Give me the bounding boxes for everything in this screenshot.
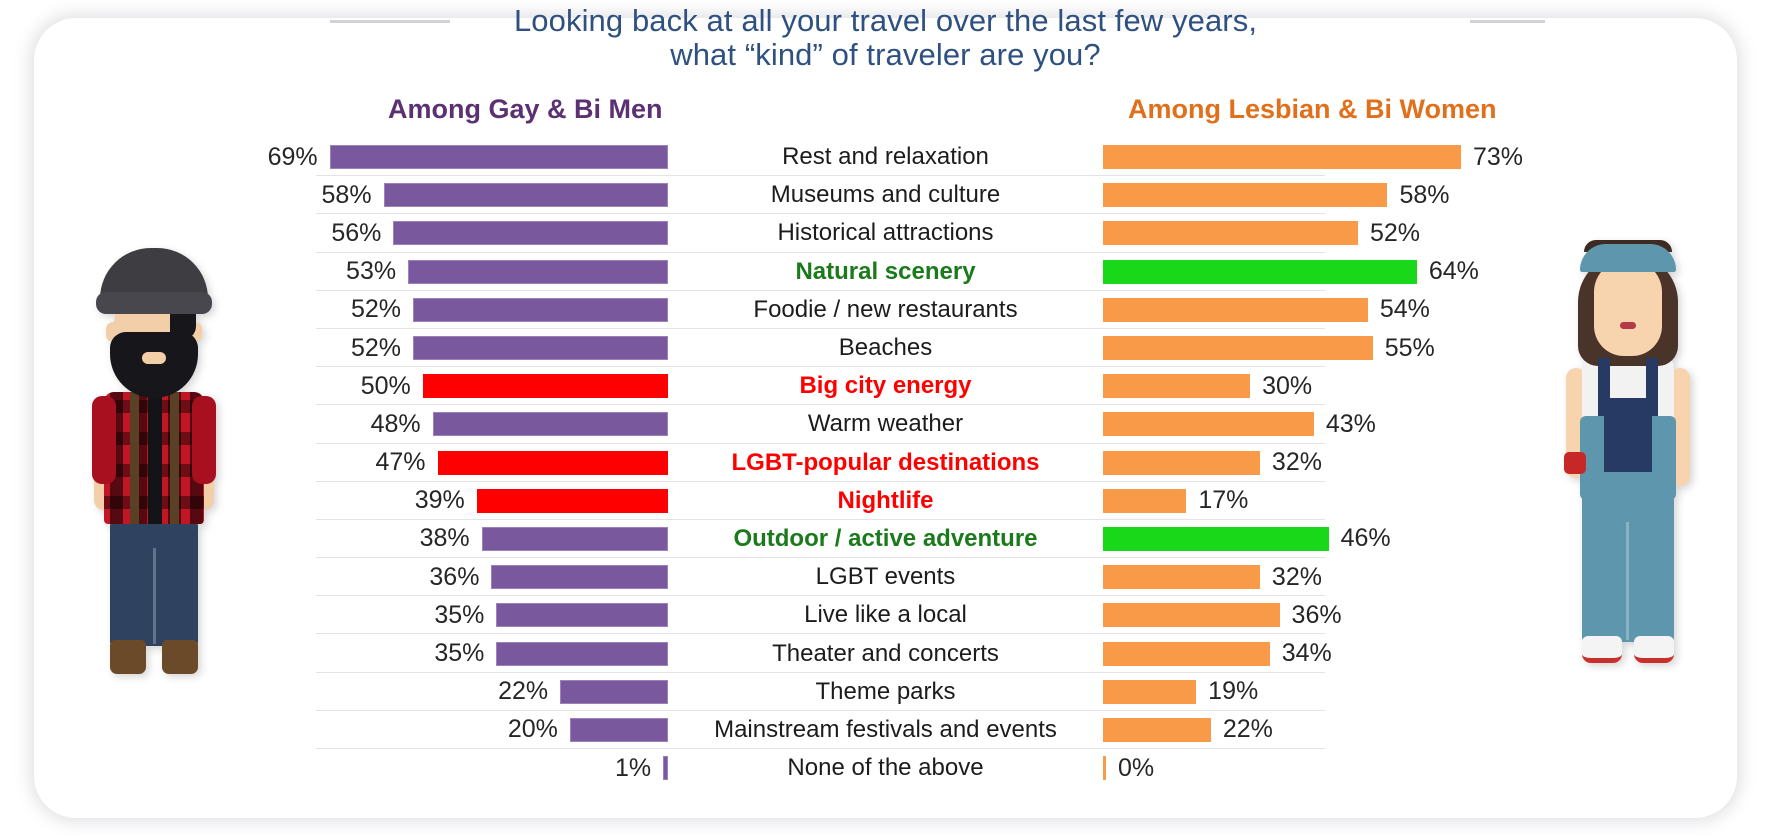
chart-row: 52%Foodie / new restaurants54% [0, 291, 1771, 329]
left-bar [393, 221, 668, 245]
title-line-1: Looking back at all your travel over the… [514, 3, 1257, 38]
woman-shoe-right-icon [1634, 636, 1674, 663]
left-value-label: 52% [351, 334, 401, 363]
category-label: Mainstream festivals and events [668, 711, 1103, 749]
category-label: Theme parks [668, 673, 1103, 711]
left-bar [413, 298, 668, 322]
right-bar-group: 22% [1103, 711, 1771, 749]
man-mouth [142, 352, 166, 364]
right-value-label: 46% [1341, 524, 1391, 553]
infographic-slide: Looking back at all your travel over the… [0, 0, 1771, 838]
chart-row: 47%LGBT-popular destinations32% [0, 444, 1771, 482]
woman-overall-bib [1604, 398, 1652, 472]
right-bar [1103, 336, 1373, 360]
right-value-label: 55% [1385, 334, 1435, 363]
category-label: Beaches [668, 329, 1103, 367]
column-header-men: Among Gay & Bi Men [388, 94, 663, 125]
left-bar [408, 260, 668, 284]
category-label: Live like a local [668, 596, 1103, 634]
left-value-label: 38% [420, 524, 470, 553]
left-bar [491, 565, 668, 589]
chart-row: 58%Museums and culture58% [0, 176, 1771, 214]
category-label: Natural scenery [668, 253, 1103, 291]
right-value-label: 0% [1118, 754, 1154, 783]
chart-row: 36%LGBT events32% [0, 558, 1771, 596]
category-label: Nightlife [668, 482, 1103, 520]
column-header-women: Among Lesbian & Bi Women [1128, 94, 1497, 125]
left-bar-group: 20% [0, 711, 668, 749]
left-value-label: 56% [331, 219, 381, 248]
category-label: Big city energy [668, 367, 1103, 405]
left-value-label: 35% [434, 639, 484, 668]
woman-headband-icon [1580, 244, 1676, 272]
woman-leg-gap [1626, 522, 1629, 640]
left-value-label: 36% [429, 563, 479, 592]
right-bar [1103, 527, 1329, 551]
left-value-label: 39% [415, 486, 465, 515]
left-bar [482, 527, 668, 551]
chart-row: 69%Rest and relaxation73% [0, 138, 1771, 176]
woman-wristband-icon [1564, 452, 1586, 474]
man-sleeve-right [192, 396, 216, 484]
man-boot-left-icon [110, 640, 146, 674]
right-bar [1103, 183, 1387, 207]
right-bar [1103, 756, 1106, 780]
chart-row: 22%Theme parks19% [0, 673, 1771, 711]
category-label: Historical attractions [668, 214, 1103, 252]
left-bar [413, 336, 668, 360]
left-bar [496, 642, 668, 666]
left-value-label: 58% [322, 181, 372, 210]
left-bar-group: 22% [0, 673, 668, 711]
right-value-label: 64% [1429, 257, 1479, 286]
category-label: Theater and concerts [668, 634, 1103, 672]
woman-head-icon [1594, 260, 1662, 356]
right-value-label: 32% [1272, 563, 1322, 592]
right-bar [1103, 298, 1368, 322]
title-line-2: what “kind” of traveler are you? [0, 38, 1771, 72]
right-value-label: 58% [1399, 181, 1449, 210]
right-bar-group: 19% [1103, 673, 1771, 711]
right-value-label: 54% [1380, 295, 1430, 324]
left-value-label: 53% [346, 257, 396, 286]
right-bar [1103, 603, 1280, 627]
right-bar [1103, 451, 1260, 475]
right-bar [1103, 489, 1186, 513]
chart-row: 48%Warm weather43% [0, 405, 1771, 443]
left-bar [438, 451, 668, 475]
left-value-label: 22% [498, 677, 548, 706]
chart-row: 20%Mainstream festivals and events22% [0, 711, 1771, 749]
left-value-label: 20% [508, 715, 558, 744]
left-bar [384, 183, 668, 207]
man-sleeve-left [92, 396, 116, 484]
chart-row: 53%Natural scenery64% [0, 253, 1771, 291]
chart-row: 38%Outdoor / active adventure46% [0, 520, 1771, 558]
chart-row: 35%Theater and concerts34% [0, 634, 1771, 672]
chart-row: 35%Live like a local36% [0, 596, 1771, 634]
left-bar-group: 1% [0, 749, 668, 787]
right-bar [1103, 680, 1196, 704]
left-bar [560, 680, 668, 704]
left-value-label: 69% [268, 143, 318, 172]
right-value-label: 32% [1272, 448, 1322, 477]
chart-row: 56%Historical attractions52% [0, 214, 1771, 252]
category-label: Outdoor / active adventure [668, 520, 1103, 558]
right-value-label: 36% [1292, 601, 1342, 630]
left-bar-group: 69% [0, 138, 668, 176]
left-value-label: 52% [351, 295, 401, 324]
man-beard-icon [110, 332, 198, 398]
right-value-label: 17% [1198, 486, 1248, 515]
right-bar [1103, 642, 1270, 666]
chart-row: 39%Nightlife17% [0, 482, 1771, 520]
right-bar [1103, 221, 1358, 245]
left-bar [496, 603, 668, 627]
category-label: Warm weather [668, 405, 1103, 443]
left-value-label: 1% [615, 754, 651, 783]
left-bar [477, 489, 668, 513]
right-value-label: 30% [1262, 372, 1312, 401]
right-value-label: 19% [1208, 677, 1258, 706]
category-label: LGBT-popular destinations [668, 444, 1103, 482]
category-label: None of the above [668, 749, 1103, 787]
right-bar [1103, 374, 1250, 398]
right-bar-group: 58% [1103, 176, 1771, 214]
right-bar [1103, 412, 1314, 436]
woman-lips [1620, 322, 1636, 329]
left-bar [330, 145, 668, 169]
right-value-label: 22% [1223, 715, 1273, 744]
category-label: Museums and culture [668, 176, 1103, 214]
chart-row: 50%Big city energy30% [0, 367, 1771, 405]
man-beanie-brim [96, 292, 212, 314]
man-boot-right-icon [162, 640, 198, 674]
right-value-label: 34% [1282, 639, 1332, 668]
right-bar [1103, 565, 1260, 589]
woman-overalls-illustration [1558, 240, 1698, 676]
left-bar [433, 412, 668, 436]
right-bar [1103, 718, 1211, 742]
man-leg-gap [153, 548, 156, 644]
right-value-label: 52% [1370, 219, 1420, 248]
left-value-label: 48% [371, 410, 421, 439]
left-bar [570, 718, 668, 742]
chart-row: 52%Beaches55% [0, 329, 1771, 367]
page-title: Looking back at all your travel over the… [0, 4, 1771, 72]
left-bar [423, 374, 668, 398]
left-value-label: 50% [361, 372, 411, 401]
woman-shoe-left-icon [1582, 636, 1622, 663]
left-bar-group: 56% [0, 214, 668, 252]
left-value-label: 47% [375, 448, 425, 477]
category-label: Foodie / new restaurants [668, 291, 1103, 329]
right-bar [1103, 260, 1417, 284]
hipster-man-illustration [84, 248, 224, 678]
left-bar-group: 58% [0, 176, 668, 214]
right-bar [1103, 145, 1461, 169]
chart-row: 1%None of the above0% [0, 749, 1771, 787]
right-bar-group: 0% [1103, 749, 1771, 787]
category-label: LGBT events [668, 558, 1103, 596]
diverging-bar-chart: 69%Rest and relaxation73%58%Museums and … [0, 138, 1771, 787]
man-plaid-shirt-icon [104, 392, 204, 524]
right-value-label: 73% [1473, 143, 1523, 172]
right-bar-group: 73% [1103, 138, 1771, 176]
category-label: Rest and relaxation [668, 138, 1103, 176]
left-value-label: 35% [434, 601, 484, 630]
right-value-label: 43% [1326, 410, 1376, 439]
